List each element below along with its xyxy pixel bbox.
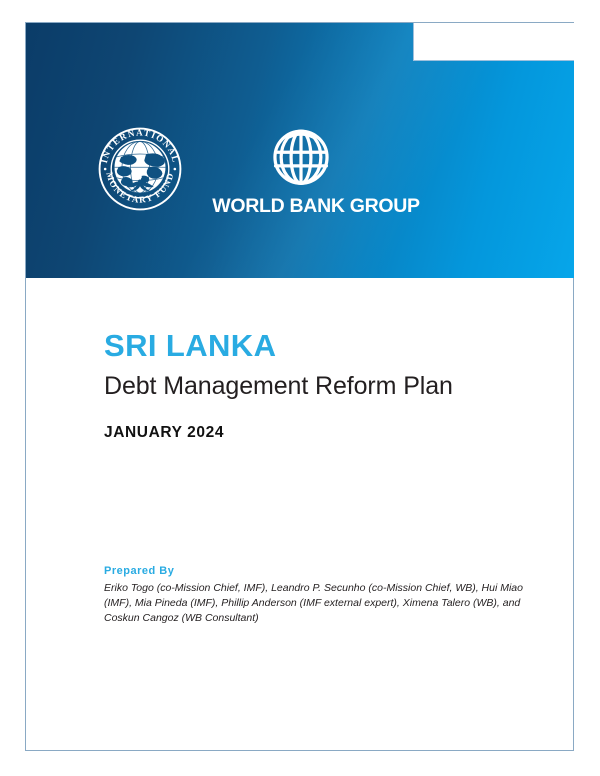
world-bank-group-logo: WORLD BANK GROUP <box>210 125 422 243</box>
world-bank-globe-icon <box>270 125 332 187</box>
prepared-by-heading: Prepared By <box>104 565 524 577</box>
header-banner: INTERNATIONAL MONETARY FUND <box>26 23 574 278</box>
banner-white-notch <box>413 23 574 61</box>
title-block: SRI LANKA Debt Management Reform Plan JA… <box>104 330 524 442</box>
prepared-by-block: Prepared By Eriko Togo (co-Mission Chief… <box>104 565 524 626</box>
document-cover-page: INTERNATIONAL MONETARY FUND <box>0 0 600 776</box>
document-subtitle: Debt Management Reform Plan <box>104 372 524 402</box>
imf-seal-icon: INTERNATIONAL MONETARY FUND <box>97 126 183 212</box>
world-bank-group-wordmark: WORLD BANK GROUP <box>210 195 422 218</box>
prepared-by-authors: Eriko Togo (co-Mission Chief, IMF), Lean… <box>104 581 524 626</box>
document-date: JANUARY 2024 <box>104 424 524 442</box>
document-country-title: SRI LANKA <box>104 330 524 363</box>
